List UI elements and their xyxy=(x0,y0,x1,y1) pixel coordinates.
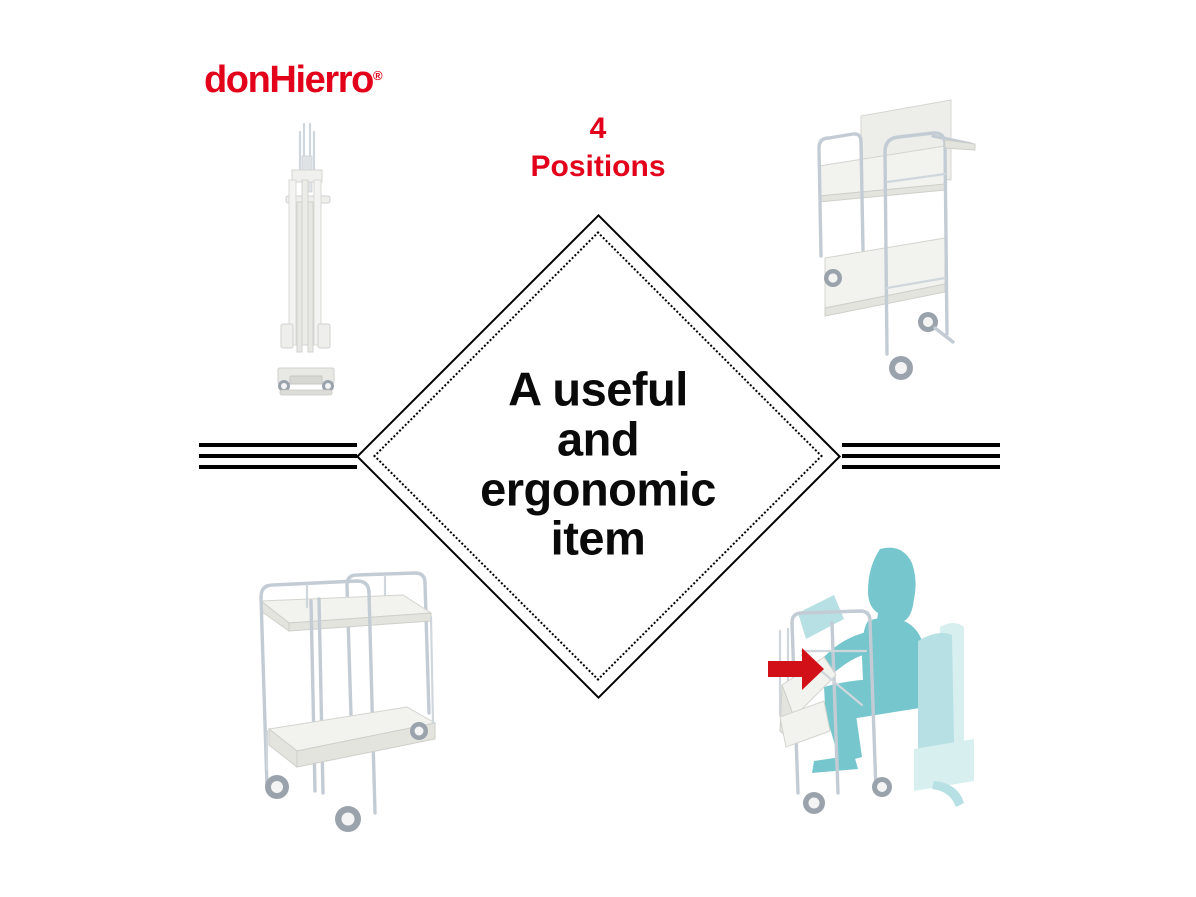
rule-line-1 xyxy=(199,443,357,447)
seated-user-illustration xyxy=(762,535,988,835)
positions-heading: 4 Positions xyxy=(448,110,748,187)
left-triple-rule xyxy=(199,441,357,471)
open-cart-illustration xyxy=(235,555,450,850)
registered-trademark-icon: ® xyxy=(373,68,383,83)
rule-line-2 xyxy=(842,454,1000,458)
rule-line-1 xyxy=(842,443,1000,447)
folded-cart-photo xyxy=(256,118,366,418)
shelf-cart-illustration xyxy=(795,92,991,412)
slide-canvas: donHierro® 4 Positions A useful and ergo… xyxy=(0,0,1196,897)
rule-line-2 xyxy=(199,454,357,458)
brand-logo-text: donHierro xyxy=(204,59,373,101)
rule-line-3 xyxy=(842,465,1000,469)
person-silhouette-icon xyxy=(798,548,928,773)
seated-user-photo xyxy=(762,535,988,835)
shelf-cart-photo xyxy=(795,92,991,412)
diamond-tagline: A useful and ergonomic item xyxy=(433,364,763,563)
open-cart-photo xyxy=(235,555,450,850)
chair-silhouette-icon xyxy=(914,623,974,807)
folded-cart-illustration xyxy=(256,118,366,418)
brand-logo: donHierro® xyxy=(204,61,383,99)
rule-line-3 xyxy=(199,465,357,469)
right-triple-rule xyxy=(842,441,1000,471)
